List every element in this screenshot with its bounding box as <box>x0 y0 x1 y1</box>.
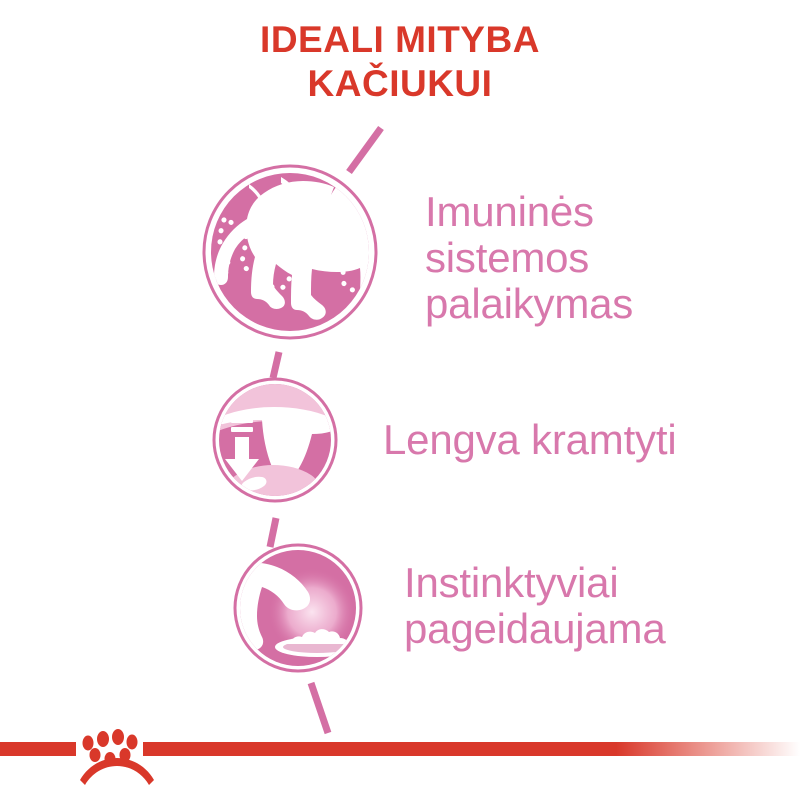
benefit-label-instinctively-preferred: Instinktyviai pageidaujama <box>404 560 665 652</box>
infographic-canvas: IDEALI MITYBA KAČIUKUI <box>0 0 800 800</box>
footer <box>0 729 800 785</box>
kitten-silhouette-icon <box>214 177 394 320</box>
connector-dashes <box>270 128 381 733</box>
connector-dash-bottom <box>311 683 328 733</box>
food-bowl-inner <box>283 641 351 653</box>
immune-arrows-icon <box>249 177 318 228</box>
footer-red-bar-left <box>0 742 76 756</box>
benefit-icon-immune-support[interactable] <box>134 119 395 338</box>
cat-eating-silhouette-icon <box>216 553 310 650</box>
immune-dotted-outline-icon <box>134 119 395 312</box>
food-bowl-rim <box>275 637 359 657</box>
graphics-layer <box>0 0 800 800</box>
benefit-1-outer-ring <box>204 166 376 338</box>
royal-canin-crown-icon <box>80 729 154 785</box>
connector-dash-top <box>349 128 381 172</box>
benefit-2-outer-ring <box>214 379 336 501</box>
palate-shape <box>215 384 335 432</box>
bowl-glow <box>268 568 356 656</box>
benefit-3-outer-ring <box>235 545 361 671</box>
footer-red-bar-right <box>143 742 800 756</box>
benefit-2-disc <box>219 384 331 496</box>
kibble-highlight <box>242 477 267 491</box>
benefit-label-immune-support: Imuninės sistemos palaikymas <box>425 189 633 327</box>
benefit-3-disc <box>240 550 356 666</box>
page-title: IDEALI MITYBA KAČIUKUI <box>0 18 800 106</box>
benefit-icon-instinctively-preferred[interactable] <box>216 545 361 671</box>
benefit-icon-easy-to-chew[interactable] <box>214 379 340 506</box>
connector-dash-1-2 <box>273 352 279 378</box>
benefit-1-disc <box>211 173 369 331</box>
benefit-label-easy-to-chew: Lengva kramtyti <box>383 417 676 463</box>
cat-ear-notch <box>232 554 250 566</box>
upper-jaw-tooth-icon <box>218 407 340 479</box>
bowl-kibble-mound <box>287 629 348 644</box>
connector-dash-2-3 <box>270 518 276 547</box>
downward-arrow-icon <box>225 418 259 481</box>
kibble-shape-icon <box>229 465 318 506</box>
